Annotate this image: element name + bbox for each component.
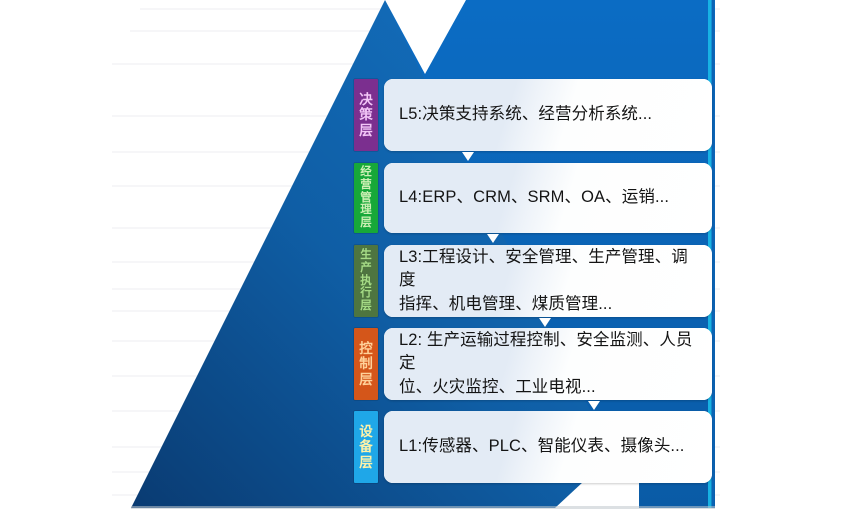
layer-tab-l4[interactable]: 经营管理层 <box>354 163 378 233</box>
layer-row-l5[interactable]: 决策层 L5:决策支持系统、经营分析系统... <box>354 79 712 151</box>
layer-card-text: L3:工程设计、安全管理、生产管理、调度 指挥、机电管理、煤质管理... <box>384 245 712 317</box>
layer-card-l2[interactable]: L2: 生产运输过程控制、安全监测、人员定 位、火灾监控、工业电视... <box>384 328 712 400</box>
layer-card-l1[interactable]: L1:传感器、PLC、智能仪表、摄像头... <box>384 411 712 483</box>
layer-tab-l1[interactable]: 设备层 <box>354 411 378 483</box>
layer-tab-char: 控 <box>359 341 373 356</box>
layer-text-line-2: 位、火灾监控、工业电视... <box>399 376 698 399</box>
layer-tab-l3[interactable]: 生产执行层 <box>354 245 378 317</box>
layer-tab-char: 管 <box>360 192 372 205</box>
layer-row-l3[interactable]: 生产执行层 L3:工程设计、安全管理、生产管理、调度 指挥、机电管理、煤质管理.… <box>354 245 712 317</box>
layer-card-text: L2: 生产运输过程控制、安全监测、人员定 位、火灾监控、工业电视... <box>384 328 712 400</box>
layer-card-l3[interactable]: L3:工程设计、安全管理、生产管理、调度 指挥、机电管理、煤质管理... <box>384 245 712 317</box>
layer-tab-char: 层 <box>360 300 372 313</box>
connector-chevron-l2-l1 <box>588 401 600 410</box>
layer-tab-char: 层 <box>359 455 373 470</box>
layer-text-line-2: 指挥、机电管理、煤质管理... <box>399 293 698 316</box>
layer-tab-l2[interactable]: 控制层 <box>354 328 378 400</box>
layer-text-line-1: L5:决策支持系统、经营分析系统... <box>399 103 698 126</box>
layer-tab-char: 执 <box>360 275 372 288</box>
layer-row-l4[interactable]: 经营管理层 L4:ERP、CRM、SRM、OA、运销... <box>354 163 712 233</box>
layer-card-text: L5:决策支持系统、经营分析系统... <box>384 79 712 151</box>
layer-text-line-1: L3:工程设计、安全管理、生产管理、调度 <box>399 246 698 293</box>
layer-tab-char: 决 <box>359 92 373 107</box>
layer-text-line-1: L1:传感器、PLC、智能仪表、摄像头... <box>399 435 698 458</box>
layer-tab-l5[interactable]: 决策层 <box>354 79 378 151</box>
layer-tab-char: 制 <box>359 356 373 371</box>
diagram-canvas: 决策层 L5:决策支持系统、经营分析系统... 经营管理层 L4:ERP、CRM… <box>0 0 856 514</box>
layer-tab-char: 行 <box>360 287 372 300</box>
layer-card-text: L4:ERP、CRM、SRM、OA、运销... <box>384 163 712 233</box>
layer-tab-char: 生 <box>360 249 372 262</box>
layer-text-line-1: L2: 生产运输过程控制、安全监测、人员定 <box>399 329 698 376</box>
layer-tab-char: 层 <box>359 372 373 387</box>
layer-tab-char: 设 <box>359 424 373 439</box>
layer-tab-char: 经 <box>360 166 372 179</box>
layer-card-text: L1:传感器、PLC、智能仪表、摄像头... <box>384 411 712 483</box>
layer-row-l1[interactable]: 设备层 L1:传感器、PLC、智能仪表、摄像头... <box>354 411 712 483</box>
layer-tab-char: 备 <box>359 439 373 454</box>
connector-chevron-l4-l3 <box>487 234 499 243</box>
layer-tab-char: 产 <box>360 262 372 275</box>
connector-chevron-l3-l2 <box>539 318 551 327</box>
layer-tab-char: 层 <box>359 123 373 138</box>
layer-tab-char: 层 <box>360 217 372 230</box>
layer-text-line-1: L4:ERP、CRM、SRM、OA、运销... <box>399 186 698 209</box>
layer-card-l4[interactable]: L4:ERP、CRM、SRM、OA、运销... <box>384 163 712 233</box>
layer-tab-char: 理 <box>360 204 372 217</box>
connector-chevron-l5-l4 <box>462 152 474 161</box>
layer-card-l5[interactable]: L5:决策支持系统、经营分析系统... <box>384 79 712 151</box>
layer-tab-char: 营 <box>360 179 372 192</box>
layer-tab-char: 策 <box>359 107 373 122</box>
layer-rows: 决策层 L5:决策支持系统、经营分析系统... 经营管理层 L4:ERP、CRM… <box>0 0 856 514</box>
layer-row-l2[interactable]: 控制层 L2: 生产运输过程控制、安全监测、人员定 位、火灾监控、工业电视... <box>354 328 712 400</box>
